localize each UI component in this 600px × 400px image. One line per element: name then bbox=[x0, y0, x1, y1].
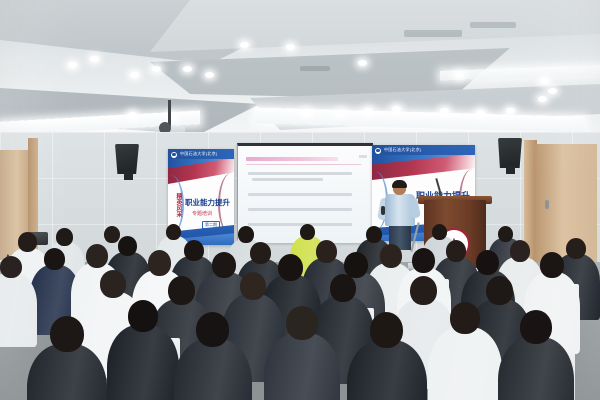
air-vent-2 bbox=[470, 22, 516, 28]
downlight-7 bbox=[358, 60, 367, 66]
downlight-15 bbox=[506, 108, 515, 114]
slide-bullet-1-line-2 bbox=[252, 178, 323, 181]
downlight-4 bbox=[130, 72, 139, 78]
audience-member-head bbox=[566, 238, 586, 259]
audience-member-head bbox=[104, 226, 120, 243]
downlight-5 bbox=[205, 72, 214, 78]
downlight-3 bbox=[152, 66, 161, 72]
downlight-21 bbox=[240, 42, 249, 48]
loudspeaker-left bbox=[115, 144, 139, 174]
audience-member-torso bbox=[428, 327, 502, 400]
slide-bullet-2-line-1 bbox=[248, 193, 352, 196]
downlight-9 bbox=[302, 110, 311, 116]
audience-member-head bbox=[486, 276, 513, 305]
downlight-12 bbox=[392, 106, 401, 112]
downlight-10 bbox=[336, 110, 345, 116]
audience-member-head bbox=[330, 274, 356, 302]
downlight-17 bbox=[548, 88, 557, 94]
university-seal-icon bbox=[375, 148, 381, 154]
downlight-13 bbox=[440, 108, 449, 114]
audience-member-head bbox=[412, 248, 435, 273]
audience-member-head bbox=[196, 312, 229, 347]
audience-member-head bbox=[238, 226, 254, 243]
slide-bullet-1-line-1 bbox=[248, 172, 352, 175]
ceiling-coffer-2 bbox=[150, 0, 600, 52]
ceiling bbox=[0, 0, 600, 150]
downlight-20 bbox=[128, 112, 137, 118]
audience-member-head bbox=[286, 306, 318, 340]
audience-member-head bbox=[86, 244, 108, 268]
audience-member-torso bbox=[174, 339, 252, 400]
banner-left-university: 中国石油大学(北京) bbox=[180, 151, 218, 157]
door-handle-icon[interactable] bbox=[545, 200, 549, 209]
audience-member-head bbox=[128, 300, 158, 332]
audience-member-head bbox=[380, 244, 402, 268]
loudspeaker-right-bracket bbox=[506, 166, 515, 174]
audience-member-head bbox=[50, 316, 84, 352]
downlight-18 bbox=[538, 96, 547, 102]
audience-member-head bbox=[100, 270, 126, 298]
audience-member-head bbox=[316, 240, 337, 263]
downlight-2 bbox=[90, 56, 99, 62]
audience-member-head bbox=[240, 272, 266, 300]
audience-member-head bbox=[250, 242, 271, 264]
audience-member-torso bbox=[264, 333, 340, 400]
audience-member-head bbox=[148, 250, 171, 276]
banner-left-headline: 职业能力提升 bbox=[185, 197, 230, 208]
slide-bullet-3-line-1 bbox=[248, 208, 352, 211]
audience-member-head bbox=[118, 236, 137, 256]
audience-member-head bbox=[278, 254, 303, 281]
audience-member-head bbox=[18, 232, 37, 252]
audience-member-head bbox=[166, 224, 181, 240]
audience-member-head bbox=[520, 310, 552, 344]
audience-member-torso bbox=[0, 273, 37, 347]
banner-right-header: 中国石油大学(北京) bbox=[372, 145, 475, 155]
audience-member-head bbox=[510, 240, 530, 262]
slide-divider bbox=[246, 164, 361, 165]
downlight-11 bbox=[364, 108, 373, 114]
downlight-8 bbox=[455, 72, 464, 78]
audience-member-head bbox=[168, 276, 195, 305]
slide-page-number bbox=[359, 155, 367, 158]
presenter-hair bbox=[392, 180, 407, 188]
audience-member-head bbox=[476, 250, 499, 275]
audience-member-head bbox=[44, 248, 65, 270]
audience-member-head bbox=[0, 256, 22, 278]
banner-left-side-text: 精英风采 bbox=[174, 193, 183, 217]
slide-title-bar bbox=[246, 157, 338, 161]
audience-member-head bbox=[300, 224, 315, 240]
downlight-6 bbox=[183, 66, 192, 72]
downlight-1 bbox=[68, 62, 77, 68]
audience-member-head bbox=[432, 224, 447, 240]
handheld-microphone-icon bbox=[381, 206, 385, 215]
audience-member-torso bbox=[107, 325, 179, 400]
audience-member-torso bbox=[498, 337, 574, 400]
audience-member-head bbox=[370, 312, 403, 348]
downlight-16 bbox=[540, 78, 549, 84]
banner-right-university: 中国石油大学(北京) bbox=[384, 147, 422, 153]
audience-member-head bbox=[56, 228, 73, 246]
audience-member-head bbox=[366, 226, 382, 243]
university-seal-icon bbox=[171, 152, 177, 158]
audience bbox=[0, 215, 600, 400]
audience-member-head bbox=[212, 252, 236, 278]
audience-member-head bbox=[540, 252, 564, 278]
air-vent-3 bbox=[300, 66, 330, 71]
air-vent-1 bbox=[404, 30, 462, 37]
audience-member-head bbox=[410, 276, 437, 305]
loudspeaker-right bbox=[498, 138, 522, 168]
photo-scene: 中国石油大学(北京) 精英风采 职业能力提升 专题培训 第二期 中国石油大学(北… bbox=[0, 0, 600, 400]
audience-member-head bbox=[446, 240, 466, 262]
audience-member-torso bbox=[347, 340, 427, 400]
audience-member-head bbox=[498, 226, 513, 242]
audience-member-head bbox=[450, 302, 480, 334]
loudspeaker-left-bracket bbox=[124, 172, 133, 180]
audience-member-head bbox=[184, 240, 204, 261]
downlight-14 bbox=[476, 110, 485, 116]
banner-left-header: 中国石油大学(北京) bbox=[168, 149, 234, 159]
downlight-22 bbox=[286, 44, 295, 50]
